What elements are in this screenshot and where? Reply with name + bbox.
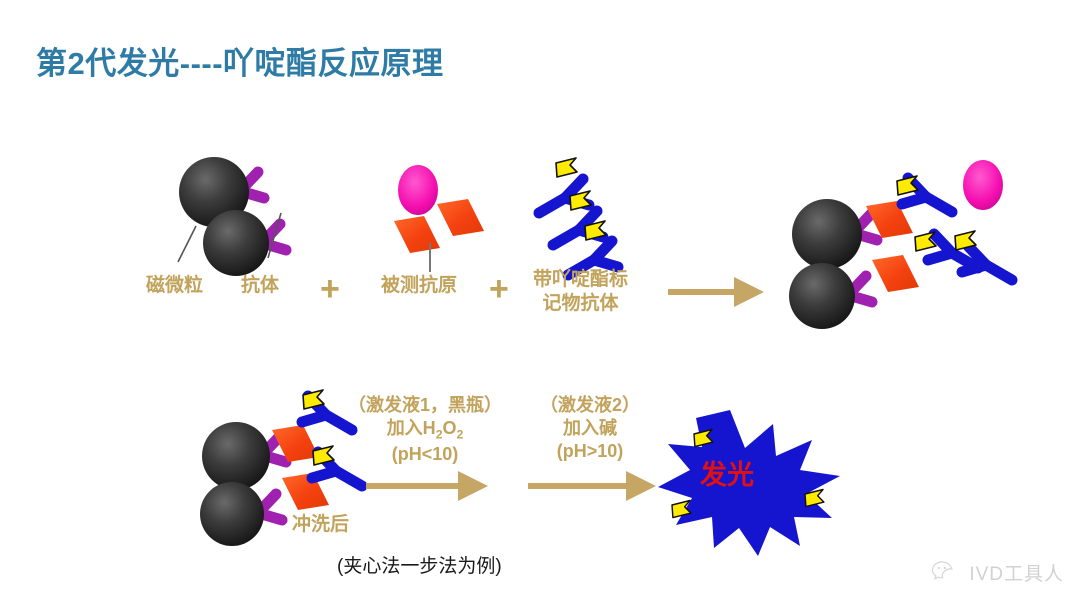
label-acridinium-line2: 记物抗体 bbox=[533, 292, 628, 316]
reactant-magnetic-bead-antibody bbox=[178, 157, 286, 276]
watermark: IVD工具人 bbox=[931, 559, 1064, 586]
label-after-washing: 冲洗后 bbox=[292, 513, 349, 537]
label-acridinium-labeled-antibody: 带吖啶酯标 记物抗体 bbox=[533, 268, 628, 317]
plus-sign-2: + bbox=[489, 272, 509, 306]
reactant-labeled-antibody bbox=[539, 158, 618, 275]
trigger1-line3: (pH<10) bbox=[348, 443, 502, 466]
footnote: (夹心法一步法为例) bbox=[337, 555, 502, 579]
trigger1-line1: （激发液1，黑瓶） bbox=[348, 394, 502, 417]
trigger2-line3: (pH>10) bbox=[540, 440, 640, 463]
product-immune-complex bbox=[789, 160, 1012, 329]
plus-sign-1: + bbox=[320, 272, 340, 306]
trigger2-line2: 加入碱 bbox=[540, 417, 640, 440]
wechat-icon bbox=[931, 560, 961, 586]
burst-label: 发光 bbox=[700, 453, 754, 492]
label-target-antigen: 被测抗原 bbox=[381, 274, 457, 298]
reactant-target-antigen bbox=[394, 165, 484, 272]
watermark-text: IVD工具人 bbox=[969, 559, 1064, 586]
label-antibody: 抗体 bbox=[241, 274, 279, 298]
trigger2-line1: （激发液2） bbox=[540, 394, 640, 417]
trigger-solution-1-note: （激发液1，黑瓶） 加入H2O2 (pH<10) bbox=[348, 394, 502, 466]
label-magnetic-particle: 磁微粒 bbox=[146, 274, 203, 298]
page-title: 第2代发光----吖啶酯反应原理 bbox=[36, 38, 444, 83]
trigger-solution-2-note: （激发液2） 加入碱 (pH>10) bbox=[540, 394, 640, 463]
trigger1-line2: 加入H2O2 bbox=[348, 417, 502, 443]
slide-canvas: 第2代发光----吖啶酯反应原理 bbox=[0, 0, 1080, 608]
label-acridinium-line1: 带吖啶酯标 bbox=[533, 268, 628, 292]
